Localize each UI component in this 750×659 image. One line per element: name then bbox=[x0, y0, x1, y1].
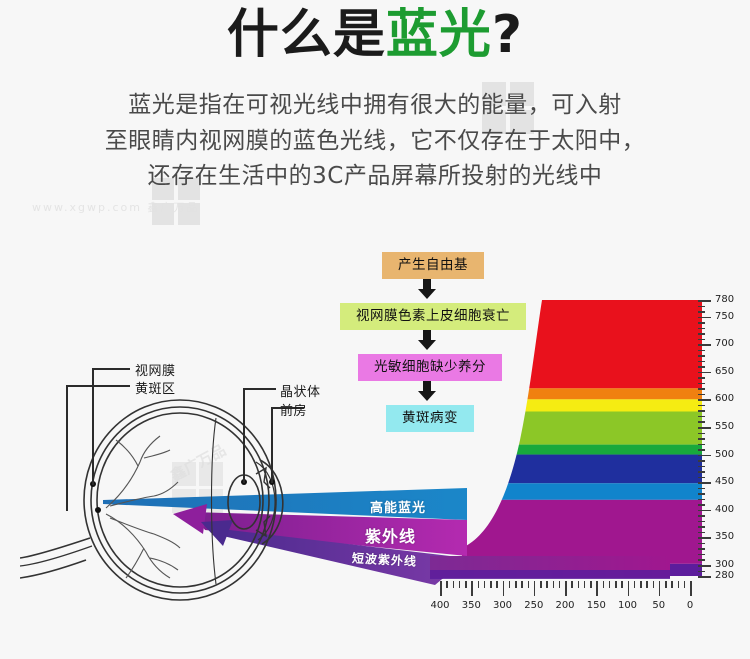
axis-tick-major bbox=[698, 317, 711, 319]
axis-tick-major bbox=[698, 455, 711, 457]
beam-label-ultraviolet: 紫外线 bbox=[365, 523, 416, 547]
axis-tick-minor bbox=[578, 581, 580, 588]
flow-step-4: 黄斑病变 bbox=[386, 405, 474, 432]
axis-tick-major bbox=[698, 537, 711, 539]
axis-tick-minor bbox=[698, 504, 705, 506]
axis-tick-minor bbox=[698, 554, 705, 556]
uv-bottom-bar-dark bbox=[430, 570, 670, 579]
leader-line-retina-h bbox=[92, 368, 130, 370]
axis-tick-minor bbox=[698, 438, 705, 440]
axis-tick-label: 700 bbox=[715, 339, 734, 349]
axis-tick-label: 280 bbox=[715, 571, 734, 581]
axis-tick-major bbox=[659, 581, 661, 596]
axis-tick-minor bbox=[698, 366, 705, 368]
macula-marker-dot bbox=[95, 507, 101, 513]
optic-nerve-upper bbox=[20, 538, 90, 558]
flow-step-1-label: 产生自由基 bbox=[398, 257, 468, 273]
spectrum-band-indigo bbox=[462, 455, 702, 484]
retina-outline bbox=[97, 413, 263, 587]
eye-label-macula: 黄斑区 bbox=[135, 378, 176, 397]
axis-tick-minor bbox=[698, 471, 705, 473]
axis-tick-major bbox=[596, 581, 598, 596]
axis-tick-label: 200 bbox=[550, 600, 580, 611]
wavelength-axis-horizontal: 400350300250200150100500 bbox=[432, 581, 700, 615]
axis-tick-minor bbox=[698, 526, 705, 528]
axis-tick-minor bbox=[698, 350, 705, 352]
axis-tick-label: 650 bbox=[715, 367, 734, 377]
eye-diagram bbox=[20, 388, 320, 613]
axis-tick-minor bbox=[698, 355, 705, 357]
axis-tick-major bbox=[698, 372, 711, 374]
axis-tick-minor bbox=[698, 328, 705, 330]
axis-tick-minor bbox=[698, 449, 705, 451]
axis-tick-minor bbox=[634, 581, 636, 588]
axis-tick-minor bbox=[698, 543, 705, 545]
axis-tick-label: 350 bbox=[715, 532, 734, 542]
axis-tick-label: 350 bbox=[456, 600, 486, 611]
page-subtitle: 蓝光是指在可视光线中拥有很大的能量，可入射 至眼睛内视网膜的蓝色光线，它不仅存在… bbox=[55, 88, 695, 195]
axis-tick-minor bbox=[698, 488, 705, 490]
axis-tick-minor bbox=[698, 532, 705, 534]
axis-tick-label: 780 bbox=[715, 295, 734, 305]
spectrum-band-green bbox=[462, 445, 702, 455]
axis-tick-label: 400 bbox=[715, 505, 734, 515]
axis-tick-minor bbox=[698, 322, 705, 324]
axis-tick-major bbox=[690, 581, 692, 596]
axis-tick-minor bbox=[646, 581, 648, 588]
axis-tick-label: 50 bbox=[644, 600, 674, 611]
flow-step-3: 光敏细胞缺少养分 bbox=[358, 354, 502, 381]
axis-tick-minor bbox=[546, 581, 548, 588]
axis-tick-major bbox=[698, 510, 711, 512]
axis-tick-minor bbox=[698, 361, 705, 363]
axis-tick-minor bbox=[665, 581, 667, 588]
axis-tick-minor bbox=[540, 581, 542, 588]
spectrum-band-yellow bbox=[462, 399, 702, 411]
axis-tick-major bbox=[698, 399, 711, 401]
axis-tick-minor bbox=[698, 421, 705, 423]
axis-tick-minor bbox=[698, 548, 705, 550]
axis-tick-minor bbox=[603, 581, 605, 588]
flow-step-3-label: 光敏细胞缺少养分 bbox=[374, 359, 486, 375]
watermark-tile bbox=[152, 203, 174, 225]
axis-tick-minor bbox=[698, 515, 705, 517]
leader-line-macula-h bbox=[66, 385, 130, 387]
leader-line-macula-v bbox=[66, 385, 68, 511]
axis-tick-minor bbox=[698, 460, 705, 462]
axis-tick-minor bbox=[698, 493, 705, 495]
axis-tick-minor bbox=[640, 581, 642, 588]
axis-tick-minor bbox=[698, 383, 705, 385]
axis-tick-label: 150 bbox=[581, 600, 611, 611]
subtitle-line: 蓝光是指在可视光线中拥有很大的能量，可入射 bbox=[55, 88, 695, 124]
axis-tick-minor bbox=[698, 394, 705, 396]
axis-tick-label: 300 bbox=[488, 600, 518, 611]
axis-tick-minor bbox=[698, 477, 705, 479]
beam-label-shortwave-uv: 短波紫外线 bbox=[352, 549, 418, 569]
flow-step-1: 产生自由基 bbox=[382, 252, 484, 279]
axis-tick-minor bbox=[698, 444, 705, 446]
axis-tick-minor bbox=[698, 571, 705, 573]
axis-tick-minor bbox=[698, 306, 705, 308]
axis-tick-minor bbox=[621, 581, 623, 588]
axis-tick-label: 250 bbox=[519, 600, 549, 611]
axis-tick-major bbox=[698, 482, 711, 484]
spectrum-band-orange bbox=[462, 388, 702, 399]
axis-tick-minor bbox=[698, 559, 705, 561]
axis-tick-minor bbox=[671, 581, 673, 588]
title-suffix: ? bbox=[492, 5, 523, 65]
axis-tick-minor bbox=[590, 581, 592, 588]
axis-tick-label: 0 bbox=[675, 600, 705, 611]
axis-tick-minor bbox=[698, 311, 705, 313]
axis-tick-minor bbox=[698, 416, 705, 418]
axis-tick-major bbox=[698, 427, 711, 429]
axis-tick-label: 100 bbox=[613, 600, 643, 611]
axis-tick-label: 750 bbox=[715, 312, 734, 322]
title-highlight: 蓝光 bbox=[386, 5, 492, 65]
infographic-canvas: www.xgwp.com 鑫广万品 鑫广万品 什么是蓝光? 蓝光是指在可视光线中… bbox=[0, 0, 750, 659]
axis-tick-major bbox=[565, 581, 567, 596]
title-prefix: 什么是 bbox=[227, 5, 386, 65]
watermark-tile bbox=[178, 203, 200, 225]
axis-tick-minor bbox=[698, 333, 705, 335]
eye-label-lens: 晶状体 bbox=[280, 381, 321, 400]
leader-line-lens-h bbox=[243, 388, 276, 390]
subtitle-line: 还存在生活中的3C产品屏幕所投射的光线中 bbox=[55, 159, 695, 195]
subtitle-line: 至眼睛内视网膜的蓝色光线，它不仅存在于太阳中， bbox=[55, 124, 695, 160]
axis-tick-minor bbox=[698, 388, 705, 390]
axis-tick-minor bbox=[528, 581, 530, 588]
axis-tick-major bbox=[534, 581, 536, 596]
optic-nerve-lower bbox=[20, 560, 86, 578]
eye-label-anterior-chamber: 前房 bbox=[280, 400, 307, 419]
axis-tick-minor bbox=[553, 581, 555, 588]
axis-tick-major bbox=[698, 576, 711, 578]
axis-tick-label: 550 bbox=[715, 422, 734, 432]
page-title: 什么是蓝光? bbox=[0, 6, 750, 66]
vitreous-divider bbox=[212, 418, 217, 584]
axis-tick-minor bbox=[698, 499, 705, 501]
flow-step-2: 视网膜色素上皮细胞衰亡 bbox=[340, 303, 526, 330]
axis-tick-minor bbox=[698, 405, 705, 407]
axis-tick-minor bbox=[515, 581, 517, 588]
watermark-text: www.xgwp.com 鑫广万品 bbox=[32, 199, 199, 215]
axis-tick-label: 300 bbox=[715, 560, 734, 570]
axis-tick-minor bbox=[698, 339, 705, 341]
axis-tick-minor bbox=[521, 581, 523, 588]
leader-line-lens-v bbox=[243, 388, 245, 483]
axis-tick-minor bbox=[698, 433, 705, 435]
sclera-outline bbox=[84, 400, 276, 600]
axis-tick-label: 600 bbox=[715, 394, 734, 404]
axis-tick-minor bbox=[584, 581, 586, 588]
flow-step-4-label: 黄斑病变 bbox=[402, 410, 458, 426]
axis-tick-minor bbox=[698, 377, 705, 379]
axis-tick-label: 400 bbox=[425, 600, 455, 611]
axis-tick-minor bbox=[684, 581, 686, 588]
axis-tick-label: 500 bbox=[715, 450, 734, 460]
axis-tick-label: 450 bbox=[715, 477, 734, 487]
axis-tick-major bbox=[698, 344, 711, 346]
leader-line-anterior-v bbox=[271, 407, 273, 483]
axis-tick-minor bbox=[609, 581, 611, 588]
wavelength-axis-vertical: 780750700650600550500450400350300280 bbox=[698, 296, 748, 582]
axis-tick-major bbox=[628, 581, 630, 596]
axis-tick-minor bbox=[698, 410, 705, 412]
axis-tick-major bbox=[698, 300, 711, 302]
axis-tick-minor bbox=[698, 521, 705, 523]
axis-tick-minor bbox=[615, 581, 617, 588]
beam-label-high-energy-blue: 高能蓝光 bbox=[370, 497, 426, 516]
axis-tick-major bbox=[698, 565, 711, 567]
axis-tick-minor bbox=[698, 466, 705, 468]
axis-tick-minor bbox=[653, 581, 655, 588]
axis-tick-minor bbox=[559, 581, 561, 588]
axis-tick-minor bbox=[678, 581, 680, 588]
axis-tick-minor bbox=[571, 581, 573, 588]
eye-label-retina: 视网膜 bbox=[135, 360, 176, 379]
spectrum-band-yellow-green bbox=[462, 412, 702, 445]
flow-step-2-label: 视网膜色素上皮细胞衰亡 bbox=[356, 308, 510, 324]
